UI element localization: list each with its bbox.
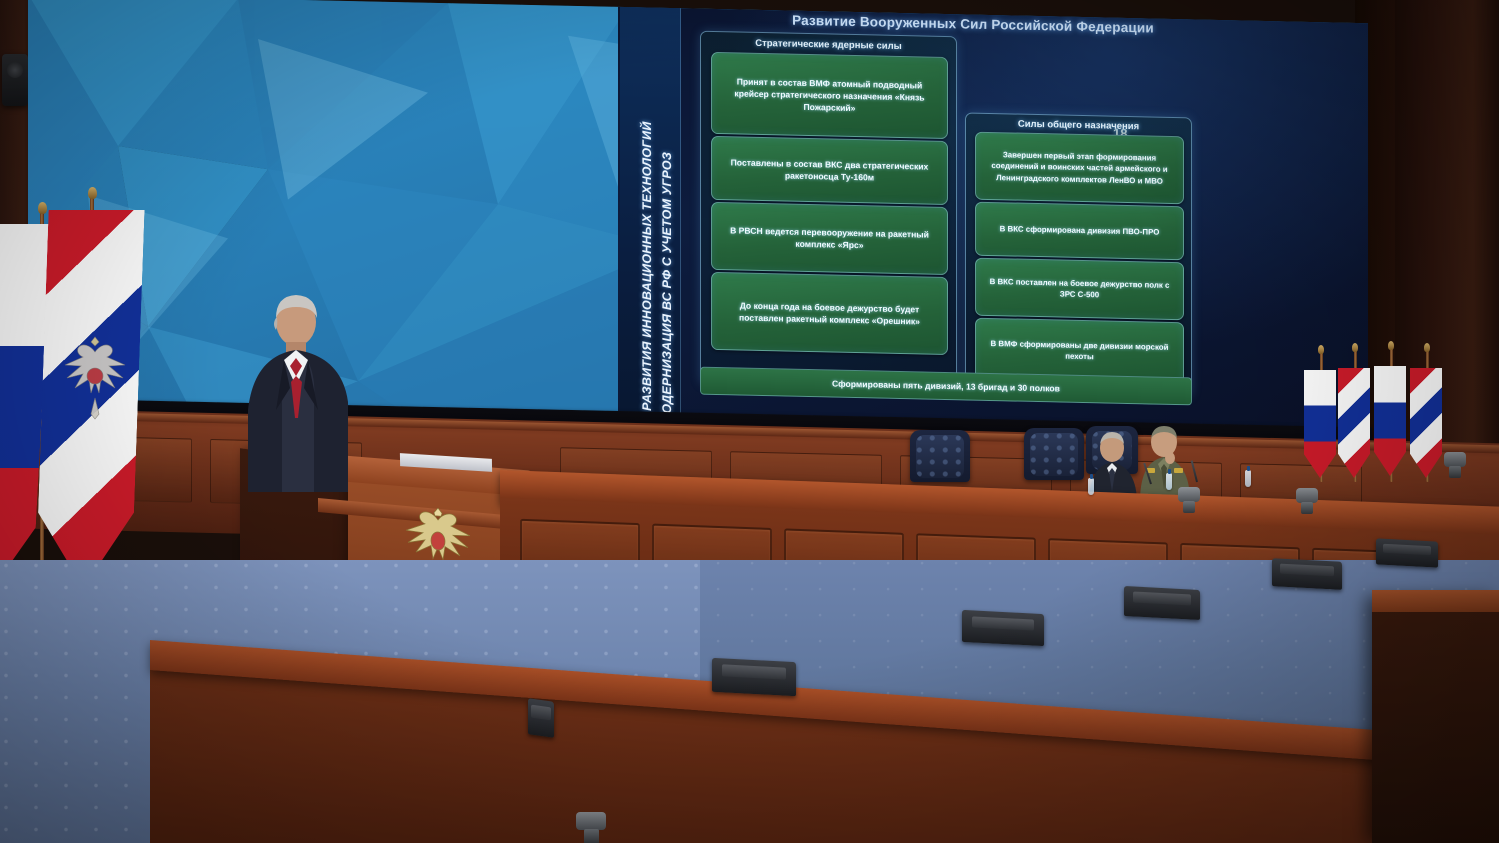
ptz-camera [1444, 452, 1466, 478]
ptz-camera-head [1296, 488, 1318, 503]
ptz-camera-base [1449, 466, 1461, 478]
slide-column-left: Стратегические ядерные силы Принят в сос… [700, 31, 957, 391]
presidium-chair [910, 430, 970, 482]
flag-finial-icon [1424, 343, 1430, 352]
ptz-camera-base [584, 829, 599, 843]
stage-monitor-speaker [962, 610, 1044, 646]
slide-box-text: Завершен первый этап формирования соедин… [982, 149, 1177, 186]
double-headed-eagle-icon [60, 336, 130, 432]
stage-monitor-speaker [712, 658, 796, 696]
foreground-desk-top [1372, 590, 1499, 612]
stage-monitor-speaker [1376, 538, 1438, 567]
wall-speaker-icon [2, 54, 28, 106]
column-right-heading: Силы общего назначения [966, 117, 1191, 133]
presidium-chair [1024, 428, 1084, 480]
stage-monitor-speaker [1272, 558, 1342, 590]
water-bottle [1088, 478, 1094, 495]
foreground-desk [1372, 596, 1499, 843]
slide-box: Принят в состав ВМФ атомный подводный кр… [711, 52, 948, 139]
slide-box-text: До конца года на боевое дежурство будет … [719, 299, 940, 328]
ptz-camera-head [1178, 487, 1200, 502]
slide-box: Поставлены в состав ВКС два стратегическ… [711, 136, 948, 205]
flag-finial-icon [38, 202, 47, 214]
flag-finial-icon [1388, 341, 1394, 350]
slide-box-text: В ВМФ сформированы две дивизии морской п… [982, 338, 1177, 364]
slide-box-text: Принят в состав ВМФ атомный подводный кр… [719, 75, 940, 116]
slide-footer-text: Сформированы пять дивизий, 13 бригад и 3… [832, 379, 1060, 394]
vertical-banner-line-1: МОДЕРНИЗАЦИЯ ВС РФ С УЧЕТОМ УГРОЗ [660, 151, 674, 424]
slide-box: В ВКС сформирована дивизия ПВО-ПРО [975, 202, 1184, 261]
ptz-camera-head [576, 812, 606, 830]
slide-box-text: В ВКС сформирована дивизия ПВО-ПРО [982, 223, 1177, 238]
flag-finial-icon [1318, 345, 1324, 354]
slide-box: До конца года на боевое дежурство будет … [711, 272, 948, 355]
slide-box: В ВКС поставлен на боевое дежурство полк… [975, 258, 1184, 321]
ptz-camera-head [1444, 452, 1466, 467]
flag-finial-icon [88, 187, 97, 199]
vertical-banner-line-2: И РАЗВИТИЯ ИННОВАЦИОННЫХ ТЕХНОЛОГИЙ [640, 121, 654, 424]
water-bottle [1166, 473, 1172, 490]
column-left-heading: Стратегические ядерные силы [701, 37, 956, 54]
ptz-camera [1178, 487, 1200, 513]
ptz-camera-base [1301, 502, 1313, 514]
led-presentation-screen: МОДЕРНИЗАЦИЯ ВС РФ С УЧЕТОМ УГРОЗ И РАЗВ… [28, 0, 1368, 469]
ptz-camera [576, 812, 606, 843]
slide-box-text: Поставлены в состав ВКС два стратегическ… [719, 156, 940, 185]
slide-column-right: Силы общего назначения Завершен первый э… [965, 112, 1192, 397]
slide-box-text: В ВКС поставлен на боевое дежурство полк… [982, 276, 1177, 302]
slide-box: В РВСН ведется перевооружение на ракетны… [711, 202, 948, 275]
flag-finial-icon [1352, 343, 1358, 352]
stage-monitor-speaker [1124, 586, 1200, 620]
water-bottle [1245, 470, 1251, 487]
stage-monitor-speaker [528, 698, 554, 738]
slide-vertical-banner: МОДЕРНИЗАЦИЯ ВС РФ С УЧЕТОМ УГРОЗ И РАЗВ… [620, 0, 681, 430]
slide-box: Завершен первый этап формирования соедин… [975, 132, 1184, 205]
ptz-camera [1296, 488, 1318, 514]
conference-hall-scene: МОДЕРНИЗАЦИЯ ВС РФ С УЧЕТОМ УГРОЗ И РАЗВ… [0, 0, 1499, 843]
ptz-camera-base [1183, 501, 1195, 513]
speaker-at-podium [236, 292, 358, 492]
slide-box-text: В РВСН ведется перевооружение на ракетны… [719, 224, 940, 253]
